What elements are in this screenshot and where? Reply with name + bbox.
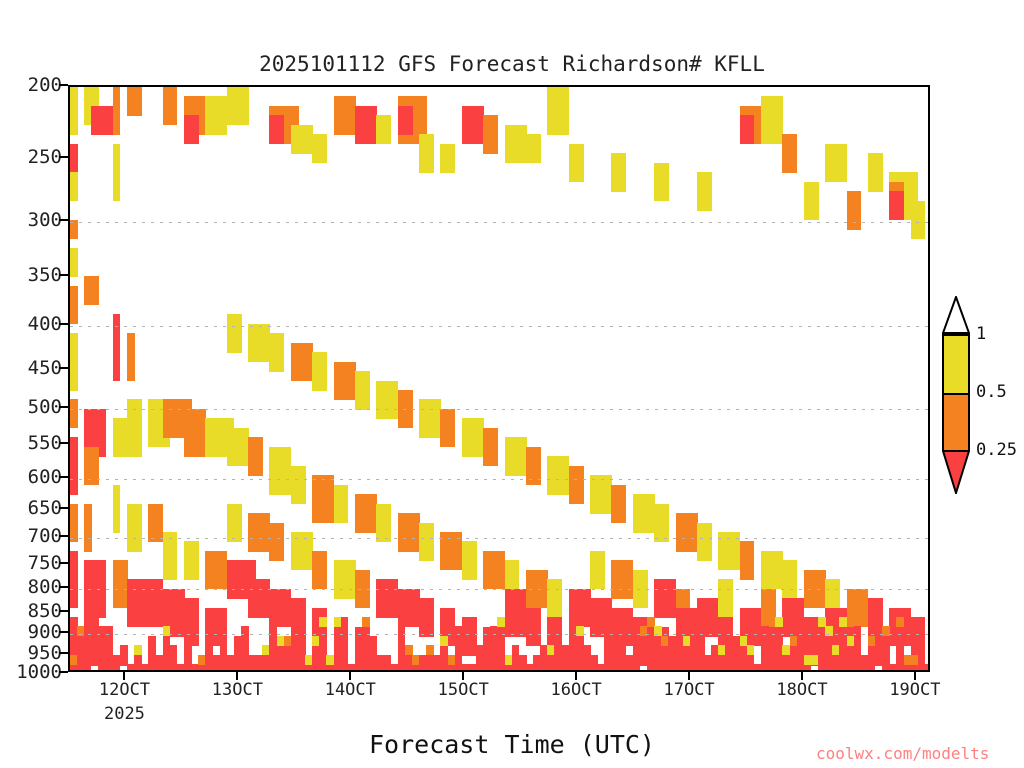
heatmap-cell bbox=[398, 513, 420, 551]
heatmap-cell bbox=[184, 541, 199, 579]
heatmap-cell bbox=[497, 617, 505, 627]
heatmap-cell bbox=[362, 617, 370, 627]
heatmap-cell bbox=[312, 551, 327, 589]
heatmap-cell bbox=[376, 504, 391, 542]
heatmap-cell bbox=[761, 589, 776, 627]
heatmap-cell bbox=[227, 314, 242, 352]
heatmap-cell bbox=[334, 362, 356, 400]
heatmap-cell bbox=[847, 191, 862, 229]
y-tick-label: 250 bbox=[28, 146, 62, 168]
colorbar-legend: 10.50.25 bbox=[930, 296, 1024, 496]
heatmap-cell bbox=[419, 523, 434, 561]
heatmap-cell bbox=[127, 87, 142, 116]
heatmap-cell bbox=[184, 115, 199, 144]
heatmap-cell bbox=[148, 504, 163, 542]
heatmap-cell bbox=[334, 560, 356, 598]
heatmap-cell bbox=[269, 523, 284, 561]
y-tick-label: 550 bbox=[28, 432, 62, 454]
heatmap-cell bbox=[248, 437, 263, 475]
heatmap-cell bbox=[70, 220, 78, 240]
x-tick-mark bbox=[236, 672, 238, 680]
heatmap-cell bbox=[590, 475, 612, 513]
heatmap-cell bbox=[269, 447, 291, 495]
y-tick-mark bbox=[59, 507, 68, 509]
chart-title: 2025101112 GFS Forecast Richardson# KFLL bbox=[0, 52, 1024, 76]
heatmap-cell bbox=[526, 608, 541, 646]
y-tick-mark bbox=[59, 367, 68, 369]
heatmap-cell bbox=[312, 134, 327, 163]
colorbar-body bbox=[942, 334, 970, 450]
heatmap-cell bbox=[163, 626, 171, 636]
heatmap-cell bbox=[113, 560, 128, 608]
y-tick-mark bbox=[59, 476, 68, 478]
heatmap-cell bbox=[70, 437, 78, 494]
y-tick-mark bbox=[59, 274, 68, 276]
x-tick-mark bbox=[462, 672, 464, 680]
y-tick-label: 300 bbox=[28, 209, 62, 231]
x-tick-sublabel: 2025 bbox=[104, 704, 145, 724]
heatmap-cell bbox=[127, 333, 135, 381]
heatmap-cell bbox=[462, 617, 477, 655]
heatmap-cell bbox=[896, 617, 904, 627]
heatmap-cell bbox=[633, 494, 655, 532]
heatmap-cell bbox=[334, 617, 342, 627]
heatmap-cell bbox=[804, 617, 819, 655]
y-tick-mark bbox=[59, 652, 68, 654]
heatmap-cell bbox=[205, 96, 227, 134]
heatmap-cell bbox=[355, 494, 377, 532]
heatmap-cell bbox=[440, 636, 448, 646]
y-tick-mark bbox=[59, 610, 68, 612]
heatmap-cell bbox=[398, 106, 413, 135]
heatmap-cell bbox=[70, 286, 78, 324]
y-tick-mark bbox=[59, 442, 68, 444]
heatmap-cell bbox=[70, 144, 78, 173]
x-tick-label: 15OCT bbox=[438, 680, 489, 700]
heatmap-cell bbox=[334, 96, 356, 134]
x-tick-label: 16OCT bbox=[551, 680, 602, 700]
heatmap-cell bbox=[440, 409, 455, 447]
heatmap-cell bbox=[633, 570, 648, 608]
heatmap-cell bbox=[654, 579, 676, 617]
heatmap-cell bbox=[847, 589, 869, 627]
y-tick-mark bbox=[59, 156, 68, 158]
heatmap-cell bbox=[782, 598, 804, 636]
heatmap-cell bbox=[505, 437, 527, 475]
heatmap-cell bbox=[462, 106, 484, 144]
heatmap-cell bbox=[868, 153, 883, 191]
heatmap-cell bbox=[569, 144, 584, 182]
colorbar-band bbox=[944, 336, 968, 394]
heatmap-cell bbox=[113, 144, 121, 201]
heatmap-cell bbox=[269, 115, 284, 144]
heatmap-cell bbox=[70, 504, 78, 542]
heatmap-cell bbox=[839, 617, 847, 627]
y-tick-label: 650 bbox=[28, 497, 62, 519]
heatmap-cell bbox=[334, 485, 349, 523]
heatmap-cell bbox=[505, 589, 527, 637]
heatmap-cell bbox=[569, 466, 584, 504]
heatmap-cell bbox=[419, 134, 434, 172]
colorbar-top-arrow-outline bbox=[942, 296, 970, 334]
heatmap-cell bbox=[718, 579, 733, 617]
y-tick-mark bbox=[59, 406, 68, 408]
heatmap-cell bbox=[526, 134, 541, 163]
y-tick-mark bbox=[59, 535, 68, 537]
source-watermark: coolwx.com/modelts bbox=[816, 744, 989, 763]
heatmap-cell bbox=[127, 399, 142, 456]
y-tick-mark bbox=[59, 671, 68, 673]
heatmap-cell bbox=[611, 153, 626, 191]
heatmap-cell bbox=[127, 504, 142, 552]
heatmap-cell bbox=[889, 191, 904, 220]
heatmap-cell bbox=[291, 532, 313, 570]
x-tick-label: 12OCT bbox=[99, 680, 150, 700]
colorbar-tick-label: 0.25 bbox=[976, 440, 1017, 460]
heatmap-cell bbox=[825, 626, 833, 636]
heatmap-cell bbox=[113, 418, 128, 456]
heatmap-cell bbox=[269, 333, 284, 371]
heatmap-cell bbox=[505, 125, 527, 163]
heatmap-cell bbox=[70, 333, 78, 390]
y-axis-labels: 2002503003504004505005506006507007508008… bbox=[0, 85, 62, 672]
heatmap-cell bbox=[355, 570, 370, 608]
heatmap-cell bbox=[590, 598, 612, 636]
heatmap-cell bbox=[747, 645, 755, 655]
heatmap-cell bbox=[113, 485, 121, 533]
heatmap-cell bbox=[462, 541, 477, 579]
heatmap-cell bbox=[84, 560, 106, 617]
heatmap-cell bbox=[868, 598, 883, 636]
heatmap-cell bbox=[740, 541, 755, 579]
heatmap-cell bbox=[761, 96, 783, 144]
heatmap-cell bbox=[163, 87, 178, 125]
colorbar-tick-label: 1 bbox=[976, 324, 986, 344]
heatmap-cell bbox=[526, 447, 541, 485]
x-tick-mark bbox=[688, 672, 690, 680]
heatmap-cells bbox=[70, 87, 928, 670]
heatmap-cell bbox=[376, 115, 391, 144]
y-tick-mark bbox=[59, 631, 68, 633]
plot-area bbox=[68, 85, 930, 672]
heatmap-cell bbox=[825, 144, 847, 182]
heatmap-cell bbox=[419, 598, 434, 636]
heatmap-cell bbox=[134, 645, 142, 655]
heatmap-cell bbox=[569, 589, 591, 627]
heatmap-cell bbox=[248, 324, 270, 362]
heatmap-cell bbox=[925, 664, 930, 672]
y-tick-label: 900 bbox=[28, 621, 62, 643]
heatmap-cell bbox=[70, 172, 78, 201]
heatmap-cell bbox=[804, 182, 819, 220]
heatmap-cell bbox=[70, 551, 78, 608]
heatmap-cell bbox=[718, 532, 740, 570]
y-tick-label: 750 bbox=[28, 552, 62, 574]
x-tick-label: 14OCT bbox=[325, 680, 376, 700]
x-tick-mark bbox=[123, 672, 125, 680]
y-tick-label: 850 bbox=[28, 600, 62, 622]
heatmap-cell bbox=[319, 617, 327, 627]
heatmap-cell bbox=[547, 87, 569, 135]
chart-canvas: 2025101112 GFS Forecast Richardson# KFLL… bbox=[0, 0, 1024, 768]
heatmap-cell bbox=[291, 125, 313, 154]
heatmap-cell bbox=[804, 570, 826, 608]
y-tick-label: 600 bbox=[28, 466, 62, 488]
heatmap-cell bbox=[676, 513, 698, 551]
x-tick-label: 19OCT bbox=[889, 680, 940, 700]
heatmap-cell bbox=[70, 87, 78, 135]
heatmap-cell bbox=[291, 466, 306, 504]
x-tick-mark bbox=[575, 672, 577, 680]
heatmap-cell bbox=[654, 163, 669, 201]
heatmap-cell bbox=[84, 276, 99, 305]
heatmap-cell bbox=[483, 115, 498, 153]
heatmap-cell bbox=[483, 428, 498, 466]
heatmap-cell bbox=[761, 551, 783, 589]
heatmap-cell bbox=[312, 475, 334, 523]
y-tick-mark bbox=[59, 323, 68, 325]
heatmap-cell bbox=[248, 513, 270, 551]
heatmap-cell bbox=[590, 551, 605, 589]
x-tick-mark bbox=[914, 672, 916, 680]
heatmap-cell bbox=[163, 532, 178, 580]
x-tick-mark bbox=[801, 672, 803, 680]
heatmap-cell bbox=[70, 399, 78, 428]
heatmap-cell bbox=[127, 579, 149, 627]
heatmap-cell bbox=[547, 456, 569, 494]
heatmap-cell bbox=[398, 589, 420, 627]
y-tick-mark bbox=[59, 586, 68, 588]
x-tick-label: 18OCT bbox=[776, 680, 827, 700]
heatmap-cell bbox=[376, 381, 398, 419]
heatmap-cell bbox=[911, 201, 926, 239]
heatmap-cell bbox=[184, 409, 206, 457]
heatmap-cell bbox=[576, 626, 584, 636]
colorbar-tick-label: 0.5 bbox=[976, 382, 1007, 402]
heatmap-cell bbox=[740, 115, 755, 144]
heatmap-cell bbox=[526, 570, 548, 608]
heatmap-cell bbox=[291, 343, 313, 381]
heatmap-cell bbox=[227, 504, 242, 542]
x-tick-label: 17OCT bbox=[663, 680, 714, 700]
heatmap-cell bbox=[782, 134, 797, 172]
heatmap-cell bbox=[611, 560, 633, 598]
heatmap-cell bbox=[248, 579, 270, 617]
heatmap-cell bbox=[483, 551, 505, 589]
heatmap-cell bbox=[84, 504, 92, 552]
y-tick-label: 200 bbox=[28, 74, 62, 96]
heatmap-cell bbox=[70, 248, 78, 277]
x-tick-label: 13OCT bbox=[212, 680, 263, 700]
heatmap-cell bbox=[376, 579, 398, 617]
heatmap-cell bbox=[419, 399, 441, 437]
heatmap-cell bbox=[227, 428, 249, 466]
heatmap-cell bbox=[269, 589, 291, 627]
y-tick-label: 800 bbox=[28, 576, 62, 598]
heatmap-cell bbox=[113, 314, 121, 381]
heatmap-cell bbox=[782, 560, 797, 598]
heatmap-cell bbox=[440, 532, 462, 570]
heatmap-cell bbox=[547, 579, 562, 617]
y-tick-label: 400 bbox=[28, 313, 62, 335]
y-tick-mark bbox=[59, 219, 68, 221]
y-tick-mark bbox=[59, 562, 68, 564]
y-tick-mark bbox=[59, 84, 68, 86]
heatmap-cell bbox=[398, 390, 413, 428]
heatmap-cell bbox=[113, 87, 121, 135]
y-tick-label: 450 bbox=[28, 357, 62, 379]
y-tick-label: 500 bbox=[28, 396, 62, 418]
x-tick-mark bbox=[349, 672, 351, 680]
heatmap-cell bbox=[697, 523, 712, 561]
heatmap-cell bbox=[148, 579, 163, 627]
colorbar-divider bbox=[944, 393, 968, 395]
heatmap-cell bbox=[355, 371, 370, 409]
heatmap-cell bbox=[611, 485, 626, 523]
colorbar-band bbox=[944, 394, 968, 452]
heatmap-cell bbox=[355, 106, 377, 144]
heatmap-cell bbox=[205, 551, 227, 589]
heatmap-cell bbox=[312, 352, 327, 390]
heatmap-cell bbox=[882, 626, 890, 636]
heatmap-cell bbox=[697, 172, 712, 210]
heatmap-cell bbox=[84, 447, 99, 485]
heatmap-cell bbox=[227, 87, 249, 125]
heatmap-cell bbox=[440, 144, 455, 173]
heatmap-cell bbox=[775, 617, 783, 627]
y-tick-label: 1000 bbox=[16, 661, 62, 683]
y-tick-label: 350 bbox=[28, 264, 62, 286]
heatmap-cell bbox=[654, 504, 669, 542]
y-tick-label: 700 bbox=[28, 525, 62, 547]
heatmap-cell bbox=[462, 418, 484, 456]
